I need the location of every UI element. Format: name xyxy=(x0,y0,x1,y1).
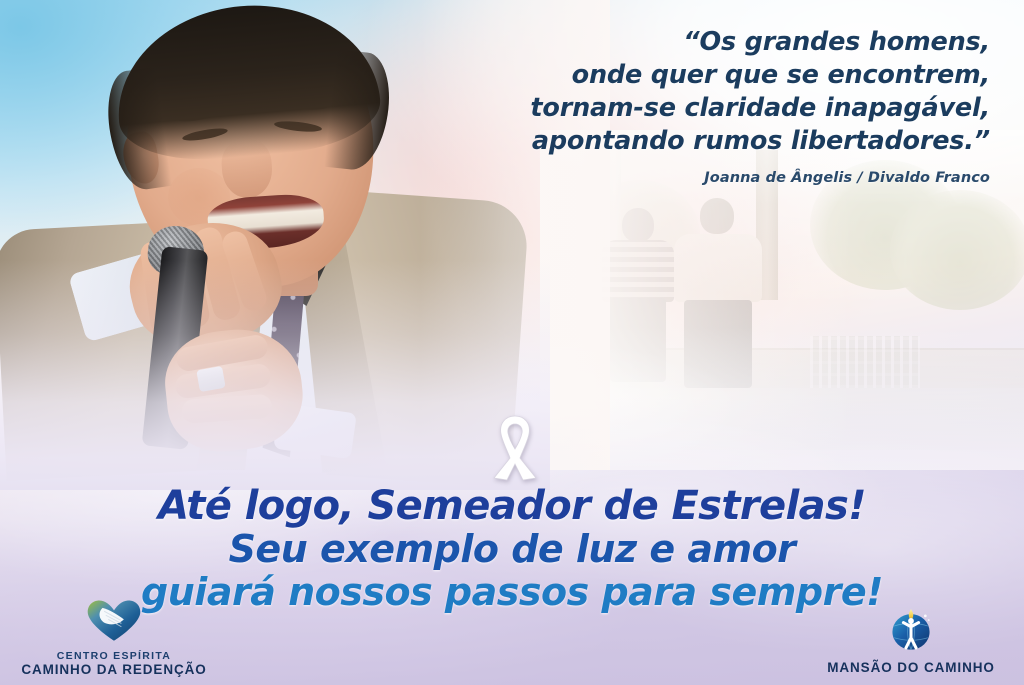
headline-line-1: Até logo, Semeador de Estrelas! xyxy=(0,484,1024,528)
heart-hands-icon xyxy=(8,598,220,649)
logo-mansao-do-caminho: MANSÃO DO CAMINHO xyxy=(808,604,1014,675)
quote-line-4: apontando rumos libertadores.” xyxy=(430,125,990,158)
quote-line-2: onde quer que se encontrem, xyxy=(430,59,990,92)
logo-centro-espirita: CENTRO ESPÍRITA CAMINHO DA REDENÇÃO xyxy=(8,598,220,677)
memorial-poster: “Os grandes homens, onde quer que se enc… xyxy=(0,0,1024,685)
quote-attribution: Joanna de Ângelis / Divaldo Franco xyxy=(430,170,990,186)
headline-line-2: Seu exemplo de luz e amor xyxy=(0,528,1024,570)
mourning-ribbon-icon xyxy=(483,412,547,484)
logo-left-line-1: CENTRO ESPÍRITA xyxy=(8,650,220,662)
memorial-quote: “Os grandes homens, onde quer que se enc… xyxy=(430,26,990,158)
logo-left-line-2: CAMINHO DA REDENÇÃO xyxy=(8,662,220,677)
quote-line-3: tornam-se claridade inapagável, xyxy=(430,92,990,125)
logo-right-line-1: MANSÃO DO CAMINHO xyxy=(808,660,1014,675)
quote-line-1: “Os grandes homens, xyxy=(430,26,990,59)
memorial-headline: Até logo, Semeador de Estrelas! Seu exem… xyxy=(0,484,1024,614)
globe-figure-icon xyxy=(808,604,1014,658)
